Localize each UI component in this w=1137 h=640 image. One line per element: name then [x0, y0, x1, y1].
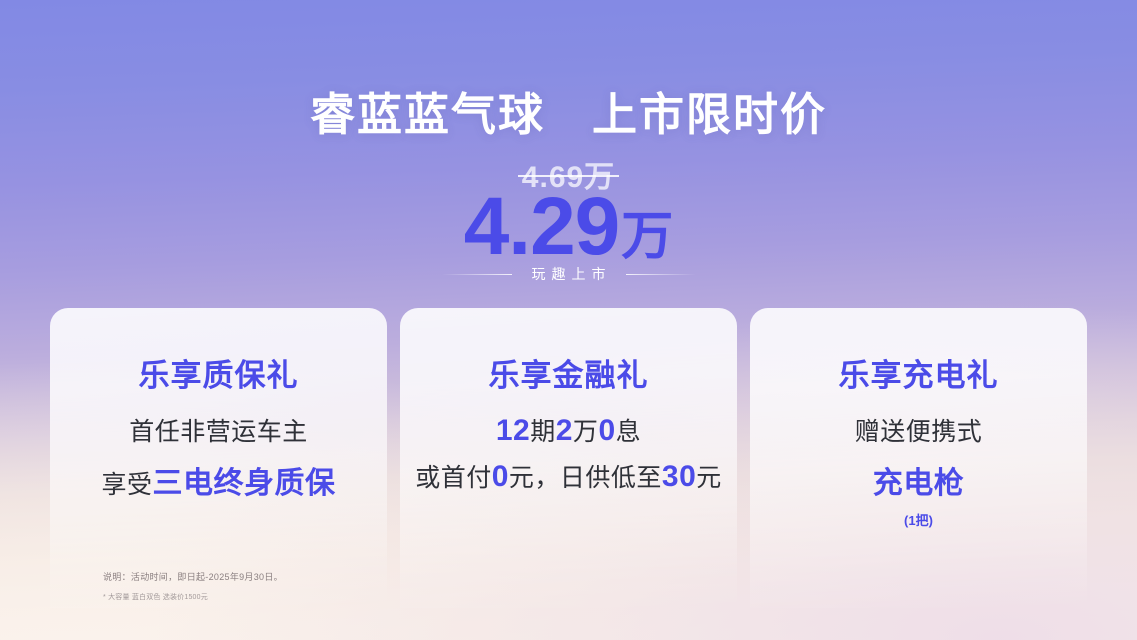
offer-card-finance[interactable]: 乐享金融礼 12期2万0息 或首付0元，日供低至30元 [400, 308, 737, 608]
offer-card-finance-title: 乐享金融礼 [400, 350, 737, 395]
tagline: 玩趣上市 [0, 264, 1137, 284]
current-price-unit: 万 [621, 208, 673, 266]
offer-card-finance-term: 12 [496, 414, 530, 447]
offer-card-charging-content: 乐享充电礼 赠送便携式 充电枪 (1把) [750, 308, 1087, 529]
offer-card-finance-daily-label: 元，日供低至 [509, 464, 662, 492]
offer-card-finance-amount: 2 [556, 414, 573, 447]
offer-card-finance-term-unit: 期 [530, 418, 556, 446]
offer-card-warranty-line2-prefix: 享受 [101, 471, 152, 499]
current-price: 4.29万 [0, 186, 1137, 268]
fineprint-option: * 大容量 蓝白双色 选装价1500元 [103, 592, 283, 602]
tagline-text: 玩趣上市 [526, 264, 612, 284]
offer-card-finance-line1: 12期2万0息 [400, 412, 737, 448]
offer-card-finance-amount-unit: 万 [573, 418, 599, 446]
offer-cards: 乐享质保礼 首任非营运车主 享受三电终身质保 乐享金融礼 12期2万0息 或首付… [50, 308, 1087, 608]
offer-card-charging[interactable]: 乐享充电礼 赠送便携式 充电枪 (1把) [750, 308, 1087, 608]
offer-card-finance-interest-unit: 息 [616, 418, 642, 446]
offer-card-warranty-line2-highlight: 三电终身质保 [153, 467, 336, 500]
fineprint-period: 说明：活动时间，即日起-2025年9月30日。 [103, 570, 283, 583]
offer-card-warranty-content: 乐享质保礼 首任非营运车主 享受三电终身质保 [50, 308, 387, 502]
offer-card-warranty-line2: 享受三电终身质保 [50, 458, 387, 502]
tagline-rule-right-icon [626, 274, 696, 275]
offer-card-warranty[interactable]: 乐享质保礼 首任非营运车主 享受三电终身质保 [50, 308, 387, 608]
tagline-rule-left-icon [442, 274, 512, 275]
offer-card-warranty-line1: 首任非营运车主 [50, 412, 387, 448]
offer-card-finance-line2: 或首付0元，日供低至30元 [400, 458, 737, 494]
fineprint: 说明：活动时间，即日起-2025年9月30日。 * 大容量 蓝白双色 选装价15… [103, 570, 283, 602]
current-price-number: 4.29 [464, 181, 620, 272]
offer-card-finance-daily-unit: 元 [696, 464, 722, 492]
offer-card-warranty-title: 乐享质保礼 [50, 350, 387, 395]
offer-card-finance-downpay-label: 或首付 [415, 464, 492, 492]
promo-poster: 睿蓝蓝气球 上市限时价 4.69万 4.29万 玩趣上市 乐享质保礼 首任非营运… [0, 0, 1137, 640]
page-title: 睿蓝蓝气球 上市限时价 [0, 78, 1137, 143]
offer-card-finance-downpay-value: 0 [492, 460, 509, 493]
offer-card-charging-title: 乐享充电礼 [750, 350, 1087, 395]
offer-card-charging-line1: 赠送便携式 [750, 412, 1087, 448]
offer-card-finance-interest: 0 [598, 414, 615, 447]
offer-card-charging-quantity: (1把) [750, 510, 1087, 529]
offer-card-finance-daily-value: 30 [662, 460, 696, 493]
offer-card-charging-line2: 充电枪 [750, 458, 1087, 502]
offer-card-finance-content: 乐享金融礼 12期2万0息 或首付0元，日供低至30元 [400, 308, 737, 494]
offer-card-charging-gift: 充电枪 [873, 467, 965, 500]
